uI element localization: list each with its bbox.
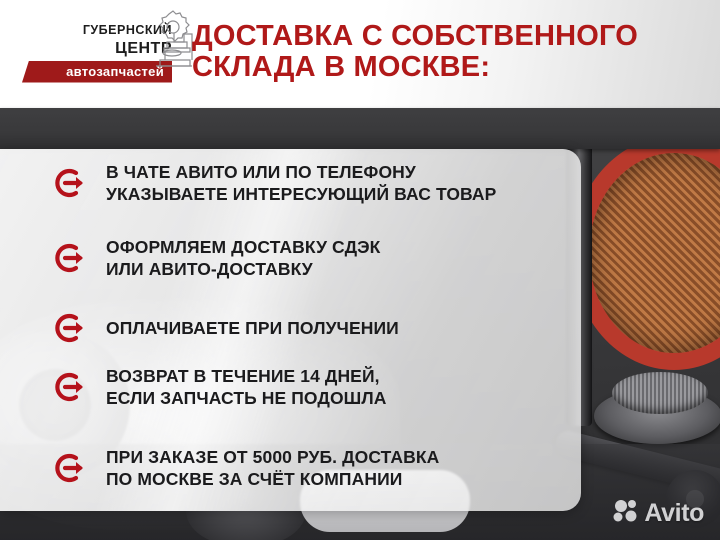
circular-arrow-right-icon — [52, 451, 88, 485]
list-item-text: ПРИ ЗАКАЗЕ ОТ 5000 РУБ. ДОСТАВКА ПО МОСК… — [106, 446, 439, 491]
avito-watermark: Avito — [613, 499, 704, 528]
list-item-text: ОФОРМЛЯЕМ ДОСТАВКУ СДЭК ИЛИ АВИТО-ДОСТАВ… — [106, 236, 380, 281]
list-item-line-2: ЕСЛИ ЗАПЧАСТЬ НЕ ПОДОШЛА — [106, 387, 387, 409]
list-item-text: В ЧАТЕ АВИТО ИЛИ ПО ТЕЛЕФОНУ УКАЗЫВАЕТЕ … — [106, 161, 496, 206]
list-item-line-1: ПРИ ЗАКАЗЕ ОТ 5000 РУБ. ДОСТАВКА — [106, 446, 439, 468]
list-item: ОПЛАЧИВАЕТЕ ПРИ ПОЛУЧЕНИИ — [52, 311, 399, 345]
list-item-line-1: ОФОРМЛЯЕМ ДОСТАВКУ СДЭК — [106, 236, 380, 258]
list-item-text: ВОЗВРАТ В ТЕЧЕНИЕ 14 ДНЕЙ, ЕСЛИ ЗАПЧАСТЬ… — [106, 365, 387, 410]
page-title-line-2: СКЛАДА В МОСКВЕ: — [192, 52, 702, 83]
hub-knurl-shape — [612, 372, 708, 414]
page-title: ДОСТАВКА С СОБСТВЕННОГО СКЛАДА В МОСКВЕ: — [192, 21, 702, 84]
dark-divider-band — [0, 108, 720, 149]
list-item-line-1: ВОЗВРАТ В ТЕЧЕНИЕ 14 ДНЕЙ, — [106, 365, 387, 387]
list-item-line-1: В ЧАТЕ АВИТО ИЛИ ПО ТЕЛЕФОНУ — [106, 161, 496, 183]
avito-label: Avito — [644, 499, 704, 528]
list-item: В ЧАТЕ АВИТО ИЛИ ПО ТЕЛЕФОНУ УКАЗЫВАЕТЕ … — [52, 161, 496, 206]
list-item: ПРИ ЗАКАЗЕ ОТ 5000 РУБ. ДОСТАВКА ПО МОСК… — [52, 446, 439, 491]
promo-banner: ГУБЕРНСКИЙ ЦЕНТР автозапчастей ДОСТАВКА … — [0, 0, 720, 540]
circular-arrow-right-icon — [52, 241, 88, 275]
list-item-line-2: ПО МОСКВЕ ЗА СЧЁТ КОМПАНИИ — [106, 468, 439, 490]
circular-arrow-right-icon — [52, 311, 88, 345]
benefits-list: В ЧАТЕ АВИТО ИЛИ ПО ТЕЛЕФОНУ УКАЗЫВАЕТЕ … — [0, 149, 581, 511]
list-item-line-2: УКАЗЫВАЕТЕ ИНТЕРЕСУЮЩИЙ ВАС ТОВАР — [106, 183, 496, 205]
list-item-text: ОПЛАЧИВАЕТЕ ПРИ ПОЛУЧЕНИИ — [106, 317, 399, 339]
circular-arrow-right-icon — [52, 370, 88, 404]
list-item-line-2: ИЛИ АВИТО-ДОСТАВКУ — [106, 258, 380, 280]
list-item: ОФОРМЛЯЕМ ДОСТАВКУ СДЭК ИЛИ АВИТО-ДОСТАВ… — [52, 236, 380, 281]
gear-piston-icon — [150, 8, 196, 70]
avito-dots-icon — [613, 499, 639, 528]
header-strip: ГУБЕРНСКИЙ ЦЕНТР автозапчастей ДОСТАВКА … — [0, 0, 720, 108]
page-title-line-1: ДОСТАВКА С СОБСТВЕННОГО — [192, 21, 702, 52]
list-item: ВОЗВРАТ В ТЕЧЕНИЕ 14 ДНЕЙ, ЕСЛИ ЗАПЧАСТЬ… — [52, 365, 387, 410]
circular-arrow-right-icon — [52, 166, 88, 200]
list-item-line-1: ОПЛАЧИВАЕТЕ ПРИ ПОЛУЧЕНИИ — [106, 317, 399, 339]
